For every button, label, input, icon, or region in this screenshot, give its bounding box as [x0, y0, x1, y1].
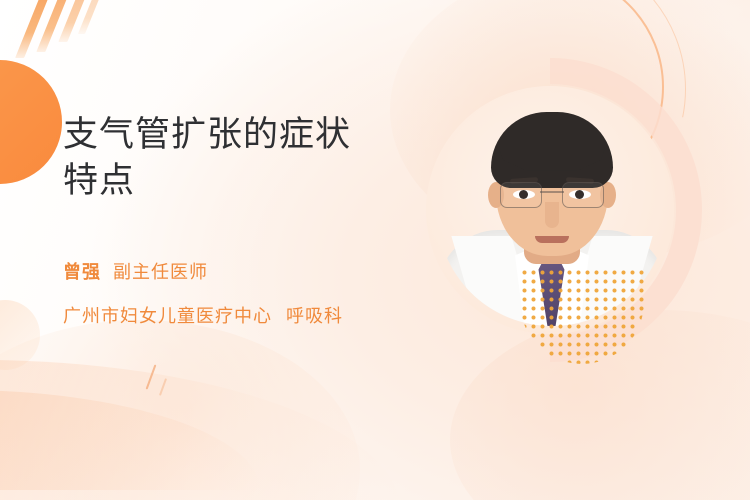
medical-info-card: 支气管扩张的症状 特点 曾强副主任医师 广州市妇女儿童医疗中心呼吸科 — [0, 0, 750, 500]
lens-right — [562, 182, 604, 208]
mouth — [535, 236, 569, 243]
title-line-2: 特点 — [63, 161, 135, 200]
doctor-rank: 副主任医师 — [113, 262, 208, 282]
department-name: 呼吸科 — [286, 306, 343, 326]
diagonal-stripes-decoration — [28, 0, 148, 58]
lens-left — [500, 182, 542, 208]
title-line-1: 支气管扩张的症状 — [63, 115, 351, 154]
nose — [545, 202, 559, 228]
doctor-affiliation: 广州市妇女儿童医疗中心呼吸科 — [63, 302, 423, 328]
text-content: 支气管扩张的症状 特点 曾强副主任医师 广州市妇女儿童医疗中心呼吸科 — [63, 112, 423, 328]
doctor-byline: 曾强副主任医师 — [63, 262, 423, 284]
hospital-name: 广州市妇女儿童医疗中心 — [63, 306, 272, 326]
hair — [491, 112, 613, 188]
glasses-bridge — [540, 191, 564, 193]
page-title: 支气管扩张的症状 特点 — [63, 112, 423, 204]
doctor-name: 曾强 — [63, 262, 101, 282]
